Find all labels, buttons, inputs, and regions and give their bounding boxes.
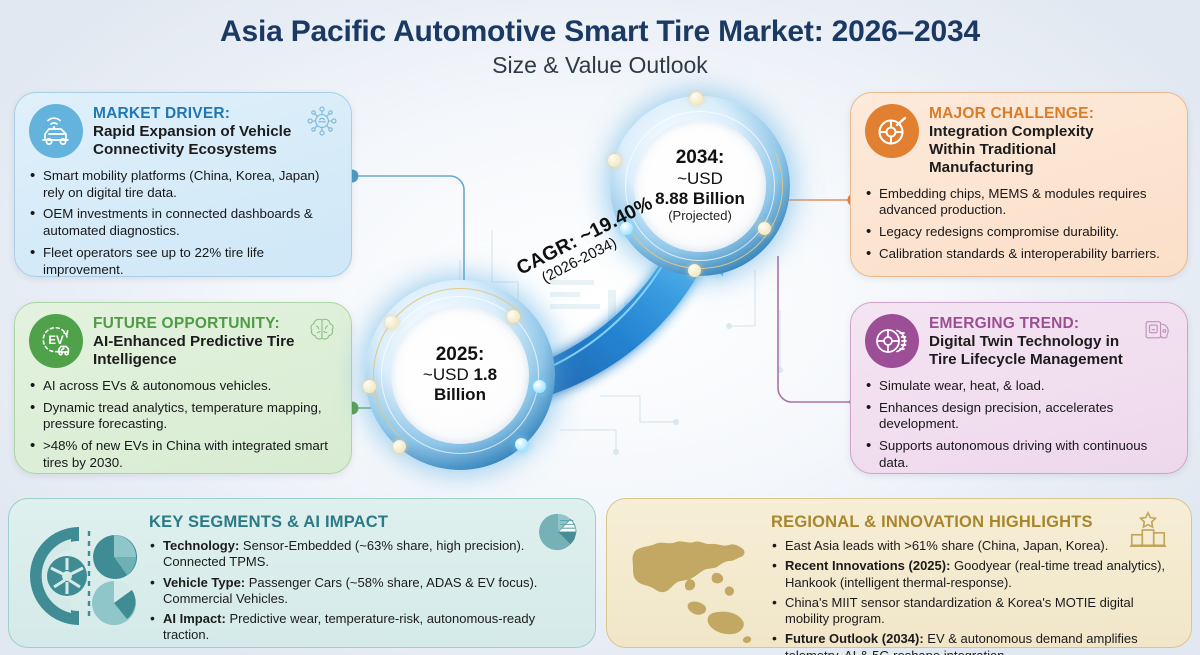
card-emerging-trend[interactable]: EMERGING TREND: Digital Twin Technology …: [850, 302, 1188, 474]
bubble-node: [690, 92, 703, 105]
tire-pie-chart-icon: [27, 523, 139, 629]
list-item: AI across EVs & autonomous vehicles.: [29, 378, 337, 395]
card-headline: Integration Complexity Within Traditiona…: [929, 123, 1139, 176]
tire-wheel-icon: [865, 104, 919, 158]
card-bullet-list: Smart mobility platforms (China, Korea, …: [29, 168, 337, 279]
bubble-note: (Projected): [668, 209, 732, 224]
panel-body: KEY SEGMENTS & AI IMPACT Technology: Sen…: [23, 509, 581, 637]
bubble-node: [385, 316, 398, 329]
item-label: Technology:: [163, 538, 239, 553]
connected-car-icon: [29, 104, 83, 158]
bubble-node: [608, 154, 621, 167]
list-item: Embedding chips, MEMS & modules requires…: [865, 186, 1173, 220]
brain-icon: [305, 314, 339, 348]
card-kicker: MARKET DRIVER:: [93, 105, 303, 122]
item-text: East Asia leads with >61% share (China, …: [785, 538, 1108, 553]
list-item: Calibration standards & interoperability…: [865, 246, 1173, 263]
bubble-year: 2034:: [676, 148, 725, 169]
market-value-bubble-2025: 2025: ~USD 1.8 Billion: [365, 280, 555, 470]
panel-regional-highlights[interactable]: REGIONAL & INNOVATION HIGHLIGHTS East As…: [606, 498, 1192, 648]
panel-body: REGIONAL & INNOVATION HIGHLIGHTS East As…: [621, 509, 1177, 637]
panel-title: REGIONAL & INNOVATION HIGHLIGHTS: [771, 513, 1177, 532]
card-bullet-list: AI across EVs & autonomous vehicles. Dyn…: [29, 378, 337, 472]
card-headline: Digital Twin Technology in Tire Lifecycl…: [929, 333, 1139, 369]
panel-key-segments[interactable]: KEY SEGMENTS & AI IMPACT Technology: Sen…: [8, 498, 596, 648]
card-headline: AI-Enhanced Predictive Tire Intelligence: [93, 333, 303, 369]
list-item: Simulate wear, heat, & load.: [865, 378, 1173, 395]
double-tire-icon: [865, 314, 919, 368]
list-item: Technology: Sensor-Embedded (~63% share,…: [149, 538, 581, 571]
bubble-value: 8.88 Billion: [655, 189, 745, 209]
list-item: OEM investments in connected dashboards …: [29, 206, 337, 240]
list-item: Supports autonomous driving with continu…: [865, 438, 1173, 472]
podium-star-icon: [1127, 509, 1169, 551]
card-market-driver[interactable]: MARKET DRIVER: Rapid Expansion of Vehicl…: [14, 92, 352, 277]
header: Asia Pacific Automotive Smart Tire Marke…: [0, 16, 1200, 79]
bubble-value-prefix: ~USD: [677, 169, 723, 189]
card-bullet-list: Simulate wear, heat, & load. Enhances de…: [865, 378, 1173, 472]
list-item: >48% of new EVs in China with integrated…: [29, 438, 337, 472]
card-title-block: FUTURE OPPORTUNITY: AI-Enhanced Predicti…: [93, 314, 337, 369]
growth-visualization: 2025: ~USD 1.8 Billion 2034: ~USD 8.88 B…: [355, 80, 845, 490]
panel-bullet-list: East Asia leads with >61% share (China, …: [771, 538, 1177, 655]
list-item: Smart mobility platforms (China, Korea, …: [29, 168, 337, 202]
card-future-opportunity[interactable]: EV FUTURE OPPORTUNITY: AI-Enhanced Predi…: [14, 302, 352, 474]
bubble-node: [515, 438, 528, 451]
list-item: Enhances design precision, accelerates d…: [865, 400, 1173, 434]
market-value-bubble-2034: 2034: ~USD 8.88 Billion (Projected): [610, 96, 790, 276]
page-title: Asia Pacific Automotive Smart Tire Marke…: [0, 16, 1200, 48]
card-title-block: MAJOR CHALLENGE: Integration Complexity …: [929, 104, 1173, 177]
list-item: Vehicle Type: Passenger Cars (~58% share…: [149, 575, 581, 608]
list-item: China's MIIT sensor standardization & Ko…: [771, 595, 1177, 628]
card-kicker: FUTURE OPPORTUNITY:: [93, 315, 303, 332]
panel-artwork: [621, 509, 763, 637]
list-item: Legacy redesigns compromise durability.: [865, 224, 1173, 241]
card-kicker: MAJOR CHALLENGE:: [929, 105, 1139, 122]
panel-bullet-list: Technology: Sensor-Embedded (~63% share,…: [149, 538, 581, 644]
infographic-canvas: Asia Pacific Automotive Smart Tire Marke…: [0, 0, 1200, 655]
panel-content: REGIONAL & INNOVATION HIGHLIGHTS East As…: [771, 509, 1177, 637]
item-text: China's MIIT sensor standardization & Ko…: [785, 595, 1134, 626]
card-header: MAJOR CHALLENGE: Integration Complexity …: [865, 104, 1173, 177]
page-subtitle: Size & Value Outlook: [0, 52, 1200, 79]
list-item: AI Impact: Predictive wear, temperature-…: [149, 611, 581, 644]
value-number: 1.8: [473, 365, 497, 384]
item-label: Recent Innovations (2025):: [785, 558, 950, 573]
list-item: East Asia leads with >61% share (China, …: [771, 538, 1177, 554]
list-item: Future Outlook (2034): EV & autonomous d…: [771, 631, 1177, 655]
bubble-value: ~USD 1.8: [423, 365, 497, 385]
asia-pacific-map-icon: [627, 517, 761, 643]
item-label: Future Outlook (2034):: [785, 631, 924, 646]
card-headline: Rapid Expansion of Vehicle Connectivity …: [93, 123, 303, 159]
list-item: Recent Innovations (2025): Goodyear (rea…: [771, 558, 1177, 591]
network-node-car-icon: [305, 104, 339, 138]
bubble-node: [688, 264, 701, 277]
digital-twin-head-icon: [1141, 314, 1175, 348]
bubble-year: 2025:: [436, 345, 485, 366]
panel-artwork: [23, 509, 141, 637]
bubble-core: 2025: ~USD 1.8 Billion: [391, 306, 529, 444]
bubble-core: 2034: ~USD 8.88 Billion (Projected): [634, 120, 766, 252]
bubble-node: [758, 222, 771, 235]
bubble-node: [363, 380, 376, 393]
bubble-node: [393, 440, 406, 453]
svg-text:EV: EV: [48, 335, 64, 347]
panel-content: KEY SEGMENTS & AI IMPACT Technology: Sen…: [149, 509, 581, 637]
card-title-block: EMERGING TREND: Digital Twin Technology …: [929, 314, 1173, 369]
pie-chart-icon: [537, 511, 579, 553]
ev-car-icon: EV: [29, 314, 83, 368]
bubble-node: [533, 380, 546, 393]
bubble-value-unit: Billion: [434, 385, 486, 405]
card-major-challenge[interactable]: MAJOR CHALLENGE: Integration Complexity …: [850, 92, 1188, 277]
bubble-node: [507, 310, 520, 323]
card-title-block: MARKET DRIVER: Rapid Expansion of Vehicl…: [93, 104, 337, 159]
panel-title: KEY SEGMENTS & AI IMPACT: [149, 513, 581, 532]
card-header: EMERGING TREND: Digital Twin Technology …: [865, 314, 1173, 369]
card-header: MARKET DRIVER: Rapid Expansion of Vehicl…: [29, 104, 337, 159]
list-item: Dynamic tread analytics, temperature map…: [29, 400, 337, 434]
card-header: EV FUTURE OPPORTUNITY: AI-Enhanced Predi…: [29, 314, 337, 369]
card-kicker: EMERGING TREND:: [929, 315, 1139, 332]
item-label: Vehicle Type:: [163, 575, 245, 590]
card-bullet-list: Embedding chips, MEMS & modules requires…: [865, 186, 1173, 263]
list-item: Fleet operators see up to 22% tire life …: [29, 245, 337, 279]
value-prefix: ~USD: [423, 365, 474, 384]
item-label: AI Impact:: [163, 611, 226, 626]
